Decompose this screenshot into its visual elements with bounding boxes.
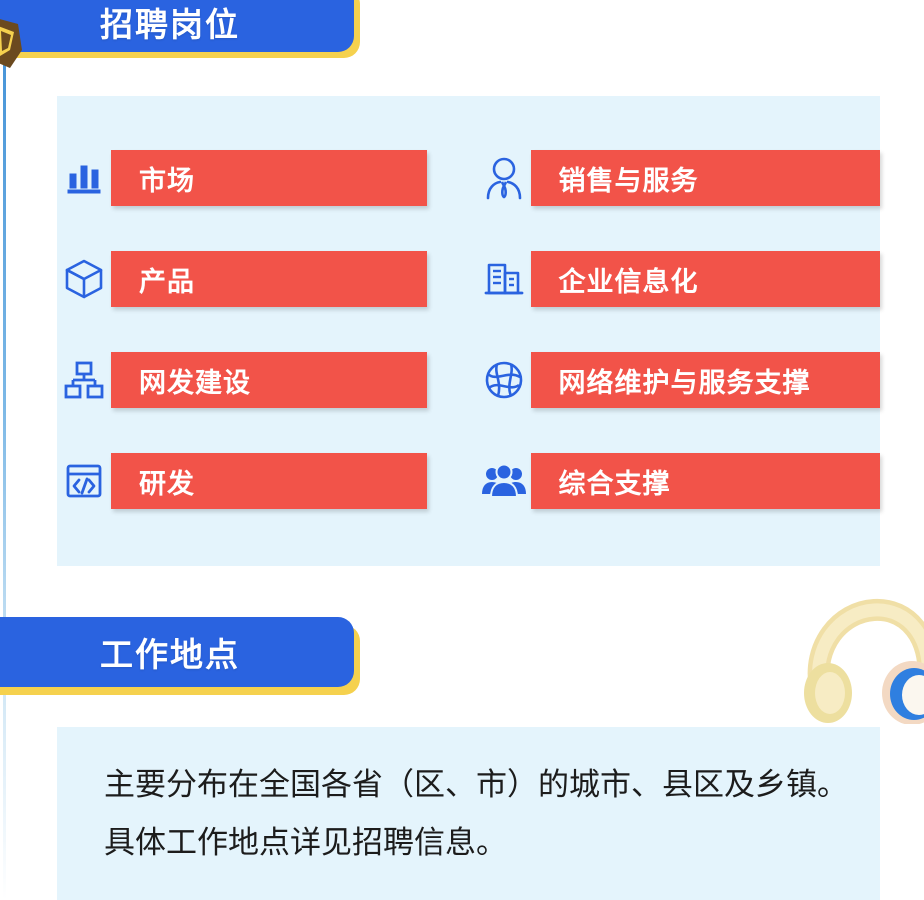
job-pill-network-construction[interactable]: 网发建设: [111, 352, 427, 408]
job-label-enterprise-it: 企业信息化: [559, 260, 699, 299]
job-item-network-maintenance[interactable]: 网络维护与服务支撑: [477, 352, 881, 408]
job-label-rnd: 研发: [139, 462, 195, 501]
banner-title-location: 工作地点: [100, 628, 240, 676]
section-banner-location: 工作地点: [0, 617, 354, 687]
globe-network-icon: [477, 352, 531, 408]
job-item-general-support[interactable]: 综合支撑: [477, 453, 881, 509]
job-label-general-support: 综合支撑: [559, 462, 671, 501]
job-pill-market[interactable]: 市场: [111, 150, 427, 206]
job-label-market: 市场: [139, 159, 195, 198]
ribbon-tail-icon: [0, 10, 26, 70]
job-pill-product[interactable]: 产品: [111, 251, 427, 307]
job-pill-network-maintenance[interactable]: 网络维护与服务支撑: [531, 352, 881, 408]
job-pill-general-support[interactable]: 综合支撑: [531, 453, 881, 509]
code-window-icon: [57, 453, 111, 509]
job-item-enterprise-it[interactable]: 企业信息化: [477, 251, 881, 307]
cube-icon: [57, 251, 111, 307]
headphone-icon: [800, 596, 924, 724]
banner-title-recruitment: 招聘岗位: [100, 0, 240, 46]
job-pill-enterprise-it[interactable]: 企业信息化: [531, 251, 881, 307]
job-item-rnd[interactable]: 研发: [57, 453, 461, 509]
location-paragraph: 主要分布在全国各省（区、市）的城市、县区及乡镇。具体工作地点详见招聘信息。: [104, 756, 864, 872]
job-label-sales-service: 销售与服务: [559, 159, 699, 198]
job-label-network-construction: 网发建设: [139, 361, 251, 400]
job-item-market[interactable]: 市场: [57, 150, 461, 206]
job-pill-rnd[interactable]: 研发: [111, 453, 427, 509]
sitemap-icon: [57, 352, 111, 408]
business-person-icon: [477, 150, 531, 206]
bar-chart-icon: [57, 150, 111, 206]
job-pill-sales-service[interactable]: 销售与服务: [531, 150, 881, 206]
job-item-network-construction[interactable]: 网发建设: [57, 352, 461, 408]
left-rail-divider: [3, 0, 6, 900]
job-item-sales-service[interactable]: 销售与服务: [477, 150, 881, 206]
office-building-icon: [477, 251, 531, 307]
job-label-network-maintenance: 网络维护与服务支撑: [559, 361, 811, 400]
user-group-icon: [477, 453, 531, 509]
infographic-page: 招聘岗位 市场: [0, 0, 924, 900]
section-banner-recruitment: 招聘岗位: [0, 0, 354, 52]
job-label-product: 产品: [139, 260, 195, 299]
jobs-grid: 市场 销售与服务: [57, 150, 880, 554]
job-item-product[interactable]: 产品: [57, 251, 461, 307]
